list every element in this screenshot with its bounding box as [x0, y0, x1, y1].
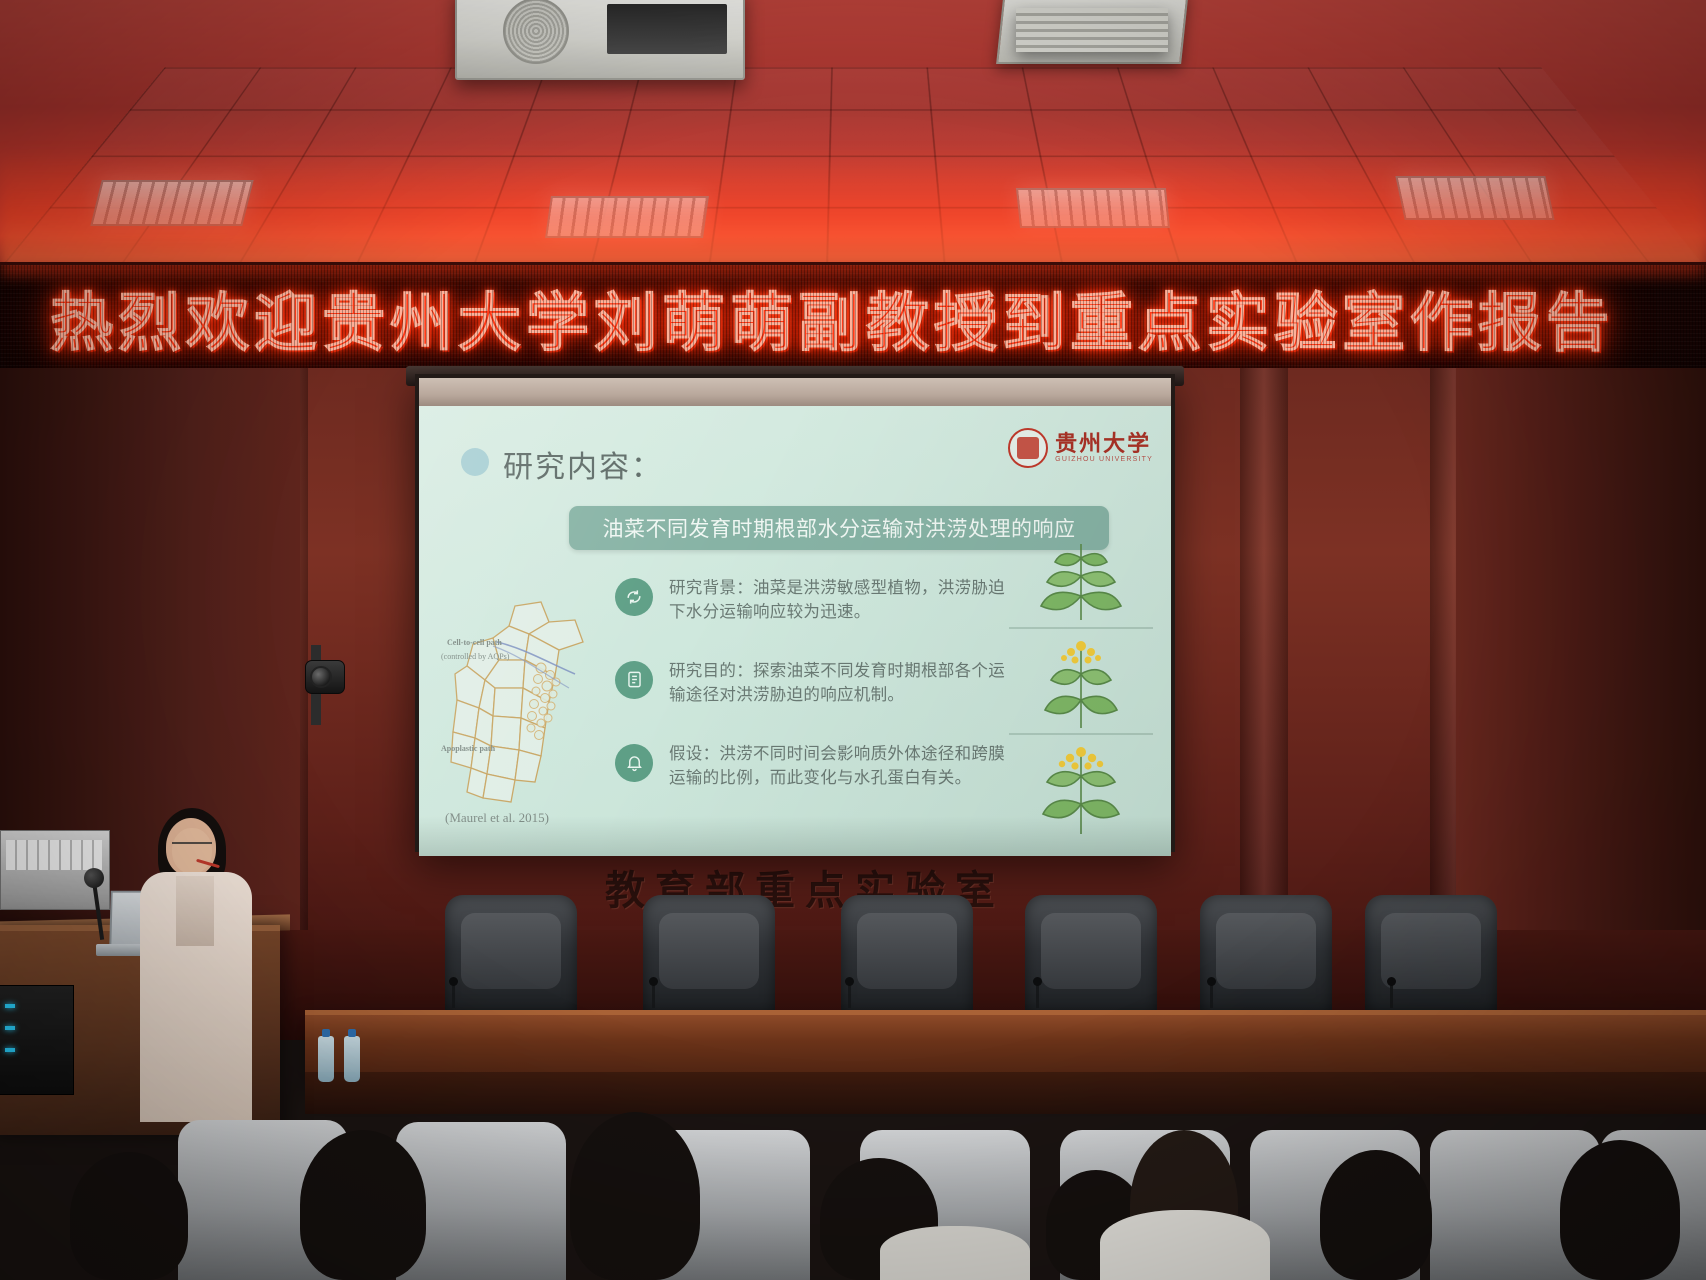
projector-port-panel — [607, 4, 727, 54]
rapeseed-plant-illustrations — [1001, 524, 1161, 844]
bullet-text: 研究目的：探索油菜不同发育时期根部各个运输途径对洪涝胁迫的响应机制。 — [669, 659, 1015, 708]
panel-chair — [1365, 895, 1497, 1015]
led-banner-text: 热烈欢迎贵州大学刘萌萌副教授到重点实验室作报告 — [50, 272, 1614, 363]
table-microphone — [652, 982, 655, 1008]
slide-bullet-dot-icon — [461, 448, 489, 476]
projector-fan-icon — [503, 0, 569, 64]
panel-chair — [841, 895, 973, 1015]
audience-shoulders — [880, 1226, 1030, 1280]
cell-diagram-svg — [437, 576, 607, 806]
table-microphone — [848, 982, 851, 1008]
bullet-text: 研究背景：油菜是洪涝敏感型植物，洪涝胁迫下水分运输响应较为迅速。 — [669, 576, 1015, 625]
air-conditioner-louvers — [1016, 8, 1168, 52]
table-microphone — [1036, 982, 1039, 1008]
ceiling-red-glow — [0, 148, 1706, 268]
panel-chair — [1200, 895, 1332, 1015]
lecture-hall-scene: 热烈欢迎贵州大学刘萌萌副教授到重点实验室作报告 教育部重点实验室 研究内容： 贵… — [0, 0, 1706, 1280]
podium-microphone — [84, 868, 104, 888]
presenter-glasses — [172, 842, 212, 852]
audience-person — [1560, 1140, 1680, 1280]
audience-person — [1320, 1150, 1432, 1280]
bullet-item: 假设：洪涝不同时间会影响质外体途径和跨膜运输的比例，而此变化与水孔蛋白有关。 — [615, 742, 1015, 791]
recycle-arrow-icon — [615, 578, 653, 616]
panel-chair — [1025, 895, 1157, 1015]
camera-lens-icon — [310, 666, 332, 688]
audience-person — [570, 1112, 700, 1280]
diagram-citation: (Maurel et al. 2015) — [445, 810, 549, 826]
diagram-label-cell-path-sub: (controlled by AQPs) — [441, 652, 509, 661]
slide-title: 研究内容： — [503, 442, 663, 486]
university-name-cn: 贵州大学 — [1055, 433, 1153, 456]
table-microphone — [1210, 982, 1213, 1008]
bullet-text: 假设：洪涝不同时间会影响质外体途径和跨膜运输的比例，而此变化与水孔蛋白有关。 — [669, 742, 1015, 791]
plant-stages-svg — [1001, 524, 1161, 844]
audience-person — [300, 1130, 426, 1280]
console-keypad[interactable] — [6, 840, 102, 870]
projection-screen: 研究内容： 贵州大学 GUIZHOU UNIVERSITY 油菜不同发育时期根部… — [415, 374, 1175, 852]
presentation-slide: 研究内容： 贵州大学 GUIZHOU UNIVERSITY 油菜不同发育时期根部… — [419, 406, 1171, 856]
presenter-clothing — [176, 876, 214, 946]
university-logo: 贵州大学 GUIZHOU UNIVERSITY — [1008, 428, 1153, 468]
bullet-item: 研究目的：探索油菜不同发育时期根部各个运输途径对洪涝胁迫的响应机制。 — [615, 659, 1015, 708]
university-seal-icon — [1008, 428, 1048, 468]
root-cross-section-diagram: Cell-to-cell path (controlled by AQPs) A… — [437, 576, 607, 806]
document-list-icon — [615, 661, 653, 699]
screen-top-band — [419, 378, 1171, 406]
university-name-en: GUIZHOU UNIVERSITY — [1055, 456, 1153, 463]
audience-shoulders — [1100, 1210, 1270, 1280]
audience-person — [70, 1152, 188, 1280]
led-scrolling-banner: 热烈欢迎贵州大学刘萌萌副教授到重点实验室作报告 — [0, 262, 1706, 370]
diagram-label-apoplastic: Apoplastic path — [441, 744, 495, 753]
panel-chair — [445, 895, 577, 1015]
audience-area — [0, 1060, 1706, 1280]
table-microphone — [452, 982, 455, 1008]
bell-icon — [615, 744, 653, 782]
table-microphone — [1390, 982, 1393, 1008]
ceiling — [0, 0, 1706, 268]
panel-chair — [643, 895, 775, 1015]
bullet-item: 研究背景：油菜是洪涝敏感型植物，洪涝胁迫下水分运输响应较为迅速。 — [615, 576, 1015, 625]
ceiling-projector — [455, 0, 745, 80]
diagram-label-cell-path: Cell-to-cell path — [447, 638, 502, 647]
slide-bullet-list: 研究背景：油菜是洪涝敏感型植物，洪涝胁迫下水分运输响应较为迅速。 研究目的：探索… — [615, 576, 1015, 824]
